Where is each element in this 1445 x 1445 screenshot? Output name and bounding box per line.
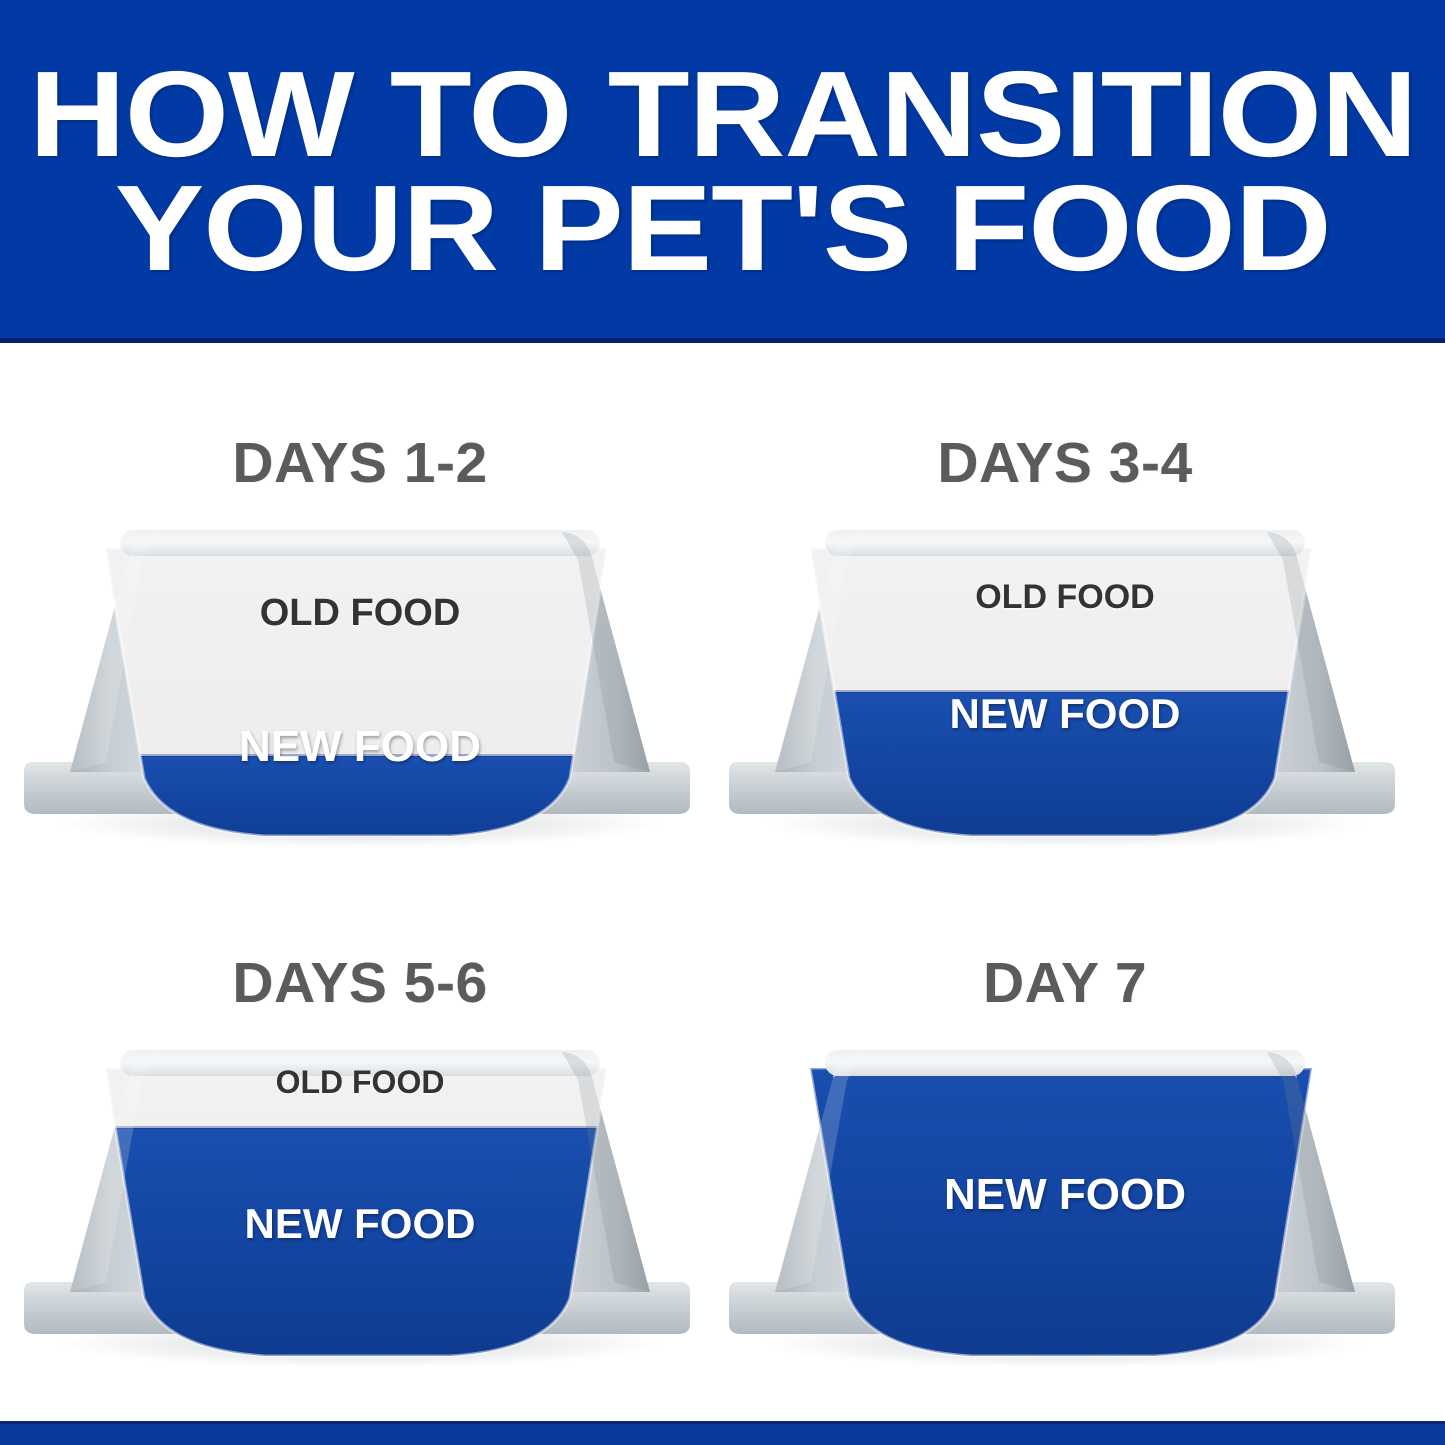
bowl-rim-top (120, 1050, 600, 1076)
food-bowl-days-5-6: OLD FOOD NEW FOOD (10, 1020, 710, 1420)
bowl-illustration (715, 1020, 1415, 1420)
food-boundary-line (90, 1126, 630, 1129)
food-boundary-line (90, 754, 630, 757)
stage-card-days-1-2: DAYS 1-2 (10, 388, 710, 908)
bowl-rim-top (825, 530, 1305, 556)
stage-card-days-5-6: DAYS 5-6 (10, 908, 710, 1428)
stage-day-label: DAYS 5-6 (10, 950, 710, 1016)
food-bowl-days-1-2: OLD FOOD NEW FOOD (10, 500, 710, 900)
bowl-illustration (715, 500, 1415, 900)
transition-stages-grid: DAYS 1-2 (0, 343, 1445, 1424)
food-bowl-day-7: NEW FOOD (715, 1020, 1415, 1420)
food-bowl-days-3-4: OLD FOOD NEW FOOD (715, 500, 1415, 900)
stage-card-days-3-4: DAYS 3-4 (715, 388, 1415, 908)
bowl-rim-top (120, 530, 600, 556)
stage-day-label: DAY 7 (715, 950, 1415, 1016)
bowl-illustration (10, 500, 710, 900)
stage-card-day-7: DAY 7 (715, 908, 1415, 1428)
page-title-line-2: YOUR PET'S FOOD (115, 172, 1331, 285)
footer-banner (0, 1424, 1445, 1445)
stage-day-label: DAYS 3-4 (715, 430, 1415, 496)
bowl-rim-top (825, 1050, 1305, 1076)
page-title-line-1: HOW TO TRANSITION (29, 58, 1417, 171)
food-boundary-line (795, 690, 1335, 693)
header-banner: HOW TO TRANSITION YOUR PET'S FOOD (0, 0, 1445, 343)
infographic-page: HOW TO TRANSITION YOUR PET'S FOOD DAYS 1… (0, 0, 1445, 1445)
bowl-illustration (10, 1020, 710, 1420)
stage-day-label: DAYS 1-2 (10, 430, 710, 496)
